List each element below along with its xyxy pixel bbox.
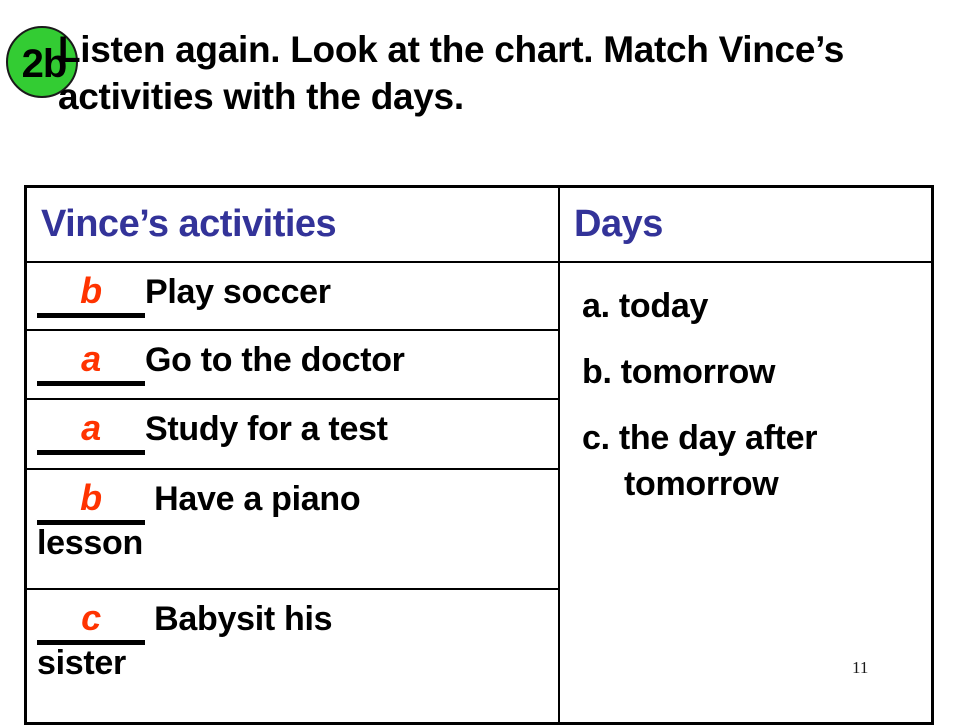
- answer-blank[interactable]: a: [37, 406, 145, 451]
- table-row: c Babysit his sister: [27, 590, 558, 708]
- table-row: a Study for a test: [27, 400, 558, 470]
- answer-value: a: [81, 338, 101, 379]
- days-column: Days a. today b. tomorrow c. the day aft…: [560, 188, 931, 722]
- day-option-continuation: tomorrow: [560, 461, 931, 507]
- blank-underline: [37, 450, 145, 455]
- activities-header-label: Vince’s activities: [41, 203, 336, 246]
- blank-underline: [37, 313, 145, 318]
- activity-label: Go to the doctor: [145, 341, 405, 379]
- activity-label: Study for a test: [145, 410, 388, 448]
- day-option: c. the day after: [560, 395, 931, 461]
- table-row: a Go to the doctor: [27, 331, 558, 400]
- answer-blank[interactable]: b: [37, 476, 145, 521]
- activity-label: Babysit his: [145, 600, 332, 638]
- activities-column: Vince’s activities b Play soccer a Go to…: [27, 188, 558, 722]
- matching-table: Vince’s activities b Play soccer a Go to…: [24, 185, 934, 725]
- activity-label-continuation: sister: [37, 641, 558, 685]
- answer-blank[interactable]: b: [37, 269, 145, 314]
- answer-value: b: [80, 477, 102, 518]
- activities-column-header: Vince’s activities: [27, 188, 558, 263]
- activity-label: Play soccer: [145, 273, 331, 311]
- days-header-label: Days: [574, 203, 663, 246]
- day-option: b. tomorrow: [560, 329, 931, 395]
- answer-value: c: [81, 597, 101, 638]
- activity-label-continuation: lesson: [37, 521, 558, 565]
- blank-underline: [37, 381, 145, 386]
- blank-underline: [37, 520, 145, 525]
- day-option: a. today: [560, 263, 931, 329]
- blank-underline: [37, 640, 145, 645]
- answer-blank[interactable]: c: [37, 596, 145, 641]
- page-number: 11: [852, 658, 868, 678]
- table-row: b Play soccer: [27, 263, 558, 331]
- days-column-header: Days: [560, 188, 931, 263]
- answer-value: a: [81, 407, 101, 448]
- activity-label: Have a piano: [145, 480, 360, 518]
- instruction-text: Listen again. Look at the chart. Match V…: [58, 26, 958, 120]
- answer-blank[interactable]: a: [37, 337, 145, 382]
- table-row: b Have a piano lesson: [27, 470, 558, 590]
- answer-value: b: [80, 270, 102, 311]
